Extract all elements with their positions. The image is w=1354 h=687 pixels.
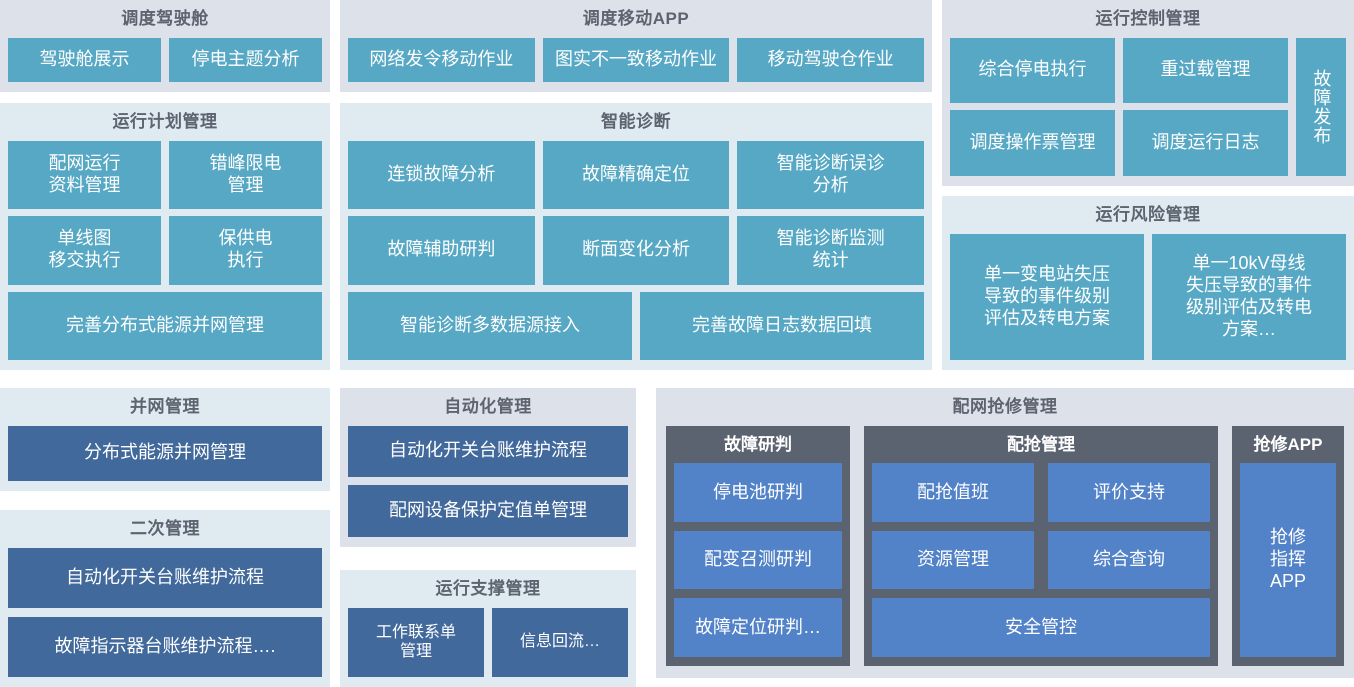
panel-title-secondary-management: 二次管理 — [8, 516, 322, 542]
panel-grid-connection: 并网管理 分布式能源并网管理 — [0, 388, 330, 491]
tile-integrated-outage-execution[interactable]: 综合停电执行 — [950, 38, 1115, 104]
panel-operation-risk: 运行风险管理 单一变电站失压 导致的事件级别 评估及转电方案 单一10kV母线 … — [942, 196, 1354, 370]
tile-distributed-energy-grid-management[interactable]: 分布式能源并网管理 — [8, 426, 322, 482]
tile-fault-location-judgement[interactable]: 故障定位研判… — [674, 598, 842, 657]
tile-transformer-polling-judgement[interactable]: 配变召测研判 — [674, 531, 842, 590]
tile-repair-command-app[interactable]: 抢修 指挥 APP — [1240, 463, 1336, 657]
tile-outage-pool-judgement[interactable]: 停电池研判 — [674, 463, 842, 522]
panel-title-operation-control: 运行控制管理 — [950, 6, 1346, 32]
panel-title-automation-management: 自动化管理 — [348, 394, 628, 420]
group-title-repair-dispatch: 配抢管理 — [872, 433, 1210, 457]
group-title-repair-app: 抢修APP — [1240, 433, 1336, 457]
panel-operation-support: 运行支撑管理 工作联系单 管理 信息回流… — [340, 570, 636, 687]
tile-evaluation-support[interactable]: 评价支持 — [1048, 463, 1210, 522]
tile-peak-shifting-power-limit-management[interactable]: 错峰限电 管理 — [169, 141, 322, 210]
group-fault-judgement: 故障研判 停电池研判 配变召测研判 故障定位研判… — [666, 426, 850, 667]
tile-comprehensive-query[interactable]: 综合查询 — [1048, 531, 1210, 590]
tile-precise-fault-location[interactable]: 故障精确定位 — [543, 141, 730, 210]
tile-map-mismatch-mobile-work[interactable]: 图实不一致移动作业 — [543, 38, 730, 83]
group-title-fault-judgement: 故障研判 — [674, 433, 842, 457]
panel-title-dispatch-cockpit: 调度驾驶舱 — [8, 6, 322, 32]
panel-title-repair-management: 配网抢修管理 — [666, 394, 1344, 420]
tile-device-protection-setting-management[interactable]: 配网设备保护定值单管理 — [348, 485, 628, 537]
tile-fault-release[interactable]: 故障发布 — [1296, 38, 1346, 177]
tile-improve-distributed-energy-grid-management[interactable]: 完善分布式能源并网管理 — [8, 292, 322, 361]
panel-smart-diagnosis: 智能诊断 连锁故障分析 故障精确定位 智能诊断误诊 分析 故障辅助研判 断面变化… — [340, 103, 932, 370]
tile-outage-theme-analysis[interactable]: 停电主题分析 — [169, 38, 322, 83]
architecture-diagram: 调度驾驶舱 驾驶舱展示 停电主题分析 调度移动APP 网络发令移动作业 图实不一… — [0, 0, 1354, 687]
tile-resource-management[interactable]: 资源管理 — [872, 531, 1034, 590]
tile-single-line-diagram-handover[interactable]: 单线图 移交执行 — [8, 216, 161, 285]
tile-dispatch-ticket-management[interactable]: 调度操作票管理 — [950, 110, 1115, 176]
tile-substation-voltage-loss-assessment[interactable]: 单一变电站失压 导致的事件级别 评估及转电方案 — [950, 234, 1144, 361]
group-repair-app: 抢修APP 抢修 指挥 APP — [1232, 426, 1344, 667]
tile-distribution-operation-data-management[interactable]: 配网运行 资料管理 — [8, 141, 161, 210]
tile-repair-duty[interactable]: 配抢值班 — [872, 463, 1034, 522]
panel-title-operation-support: 运行支撑管理 — [348, 576, 628, 602]
panel-operation-control: 运行控制管理 综合停电执行 重过载管理 调度操作票管理 调度运行日志 故障发布 — [942, 0, 1354, 186]
tile-section-change-analysis[interactable]: 断面变化分析 — [543, 216, 730, 285]
tile-dispatch-operation-log[interactable]: 调度运行日志 — [1123, 110, 1288, 176]
panel-title-operation-plan: 运行计划管理 — [8, 109, 322, 135]
tile-misdiagnosis-analysis[interactable]: 智能诊断误诊 分析 — [737, 141, 924, 210]
tile-improve-fault-log-backfill[interactable]: 完善故障日志数据回填 — [640, 292, 924, 361]
tile-10kv-busbar-voltage-loss-assessment[interactable]: 单一10kV母线 失压导致的事件 级别评估及转电 方案… — [1152, 234, 1346, 361]
panel-operation-plan: 运行计划管理 配网运行 资料管理 错峰限电 管理 单线图 移交执行 保供电 执行… — [0, 103, 330, 370]
panel-title-operation-risk: 运行风险管理 — [950, 202, 1346, 228]
tile-cockpit-display[interactable]: 驾驶舱展示 — [8, 38, 161, 83]
panel-repair-management: 配网抢修管理 故障研判 停电池研判 配变召测研判 故障定位研判… — [656, 388, 1354, 678]
panel-automation-management: 自动化管理 自动化开关台账维护流程 配网设备保护定值单管理 — [340, 388, 636, 547]
tile-automation-switch-ledger-process[interactable]: 自动化开关台账维护流程 — [8, 548, 322, 608]
tile-guaranteed-power-execution[interactable]: 保供电 执行 — [169, 216, 322, 285]
tile-work-contact-form-management[interactable]: 工作联系单 管理 — [348, 608, 484, 678]
panel-title-grid-connection: 并网管理 — [8, 394, 322, 420]
tile-fault-indicator-ledger-process[interactable]: 故障指示器台账维护流程…. — [8, 617, 322, 677]
tile-cascading-fault-analysis[interactable]: 连锁故障分析 — [348, 141, 535, 210]
panel-secondary-management: 二次管理 自动化开关台账维护流程 故障指示器台账维护流程…. — [0, 510, 330, 687]
tile-information-return[interactable]: 信息回流… — [492, 608, 628, 678]
tile-multi-datasource-access[interactable]: 智能诊断多数据源接入 — [348, 292, 632, 361]
tile-overload-management[interactable]: 重过载管理 — [1123, 38, 1288, 104]
panel-title-smart-diagnosis: 智能诊断 — [348, 109, 924, 135]
tile-safety-control[interactable]: 安全管控 — [872, 598, 1210, 657]
tile-mobile-cockpit-work[interactable]: 移动驾驶仓作业 — [737, 38, 924, 83]
panel-dispatch-mobile-app: 调度移动APP 网络发令移动作业 图实不一致移动作业 移动驾驶仓作业 — [340, 0, 932, 92]
group-repair-dispatch: 配抢管理 配抢值班 评价支持 资源管理 综合查询 安全管控 — [864, 426, 1218, 667]
panel-dispatch-cockpit: 调度驾驶舱 驾驶舱展示 停电主题分析 — [0, 0, 330, 92]
tile-fault-assisted-judgement[interactable]: 故障辅助研判 — [348, 216, 535, 285]
tile-automation-switch-ledger-maintenance[interactable]: 自动化开关台账维护流程 — [348, 426, 628, 478]
tile-network-order-mobile-work[interactable]: 网络发令移动作业 — [348, 38, 535, 83]
panel-title-dispatch-mobile-app: 调度移动APP — [348, 6, 924, 32]
tile-diagnosis-monitoring-statistics[interactable]: 智能诊断监测 统计 — [737, 216, 924, 285]
